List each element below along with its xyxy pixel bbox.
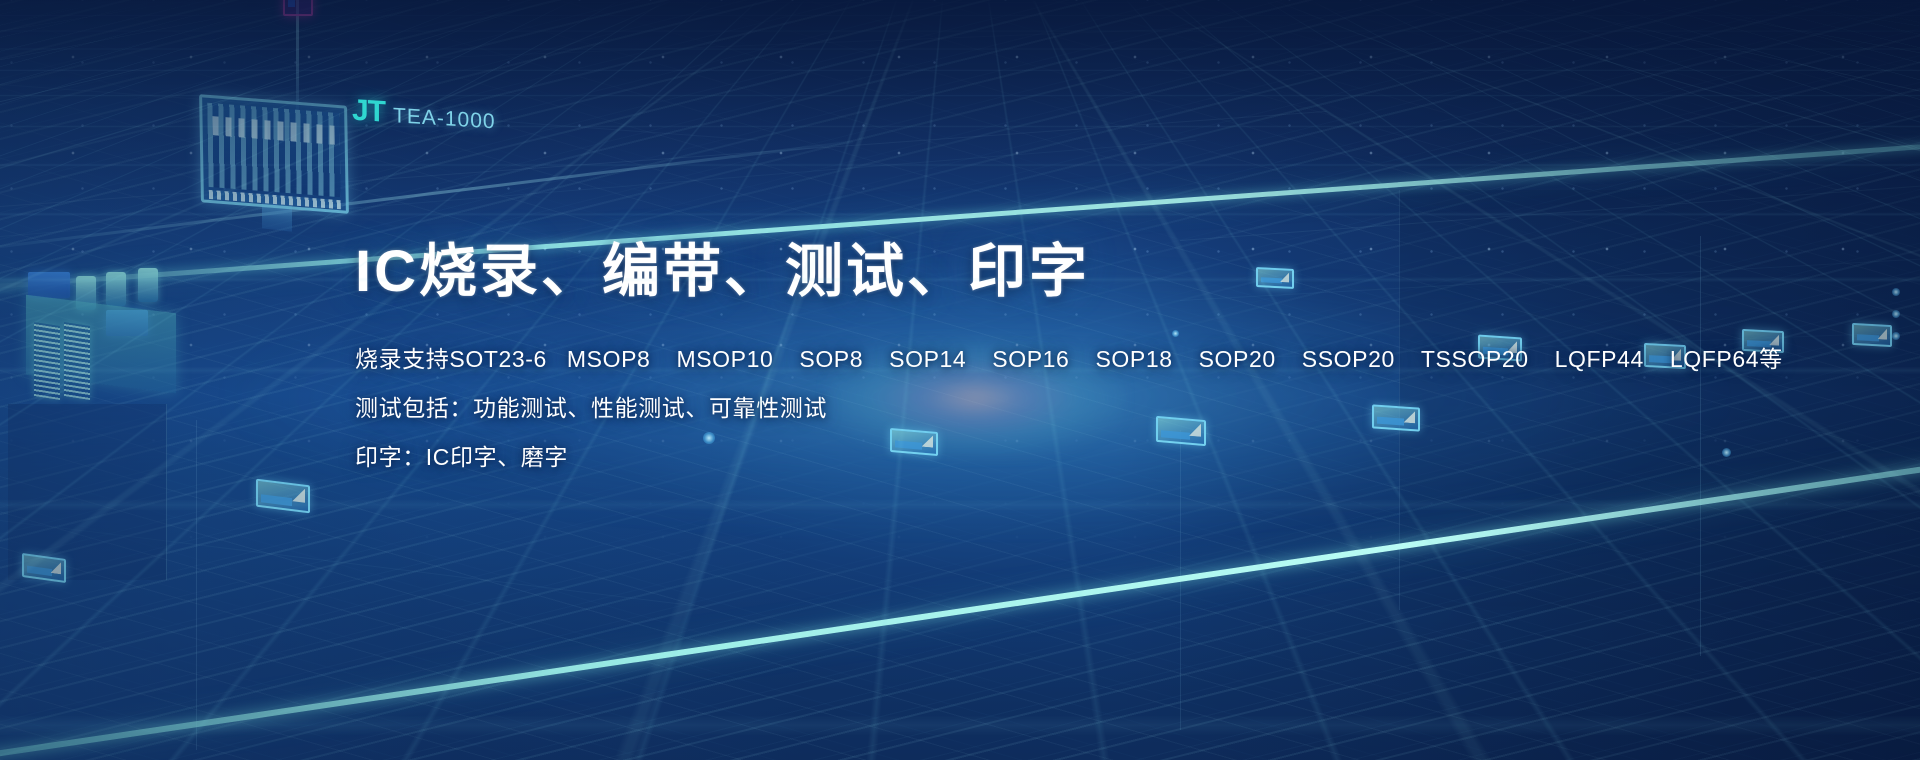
package-type-5: SOP18	[1095, 346, 1172, 372]
package-type-8: TSSOP20	[1421, 346, 1529, 372]
package-type-1: MSOP10	[676, 346, 773, 372]
hero-content: IC烧录、编带、测试、印字 烧录支持SOT23-6MSOP8MSOP10SOP8…	[355, 240, 1655, 472]
machine-brand-name: JT	[352, 94, 385, 130]
machine-model-number: TEA-1000	[393, 104, 496, 134]
burn-support-prefix: 烧录支持SOT23-6	[355, 346, 547, 372]
printing-scope-line: 印字：IC印字、磨字	[355, 438, 1655, 472]
package-type-4: SOP16	[992, 346, 1069, 372]
package-type-0: MSOP8	[567, 346, 651, 372]
overhead-indicator-icon	[283, 0, 313, 16]
package-type-2: SOP8	[799, 346, 863, 372]
package-type-10: LQFP64等	[1670, 346, 1783, 372]
package-type-3: SOP14	[889, 346, 966, 372]
handler-machine-icon	[10, 268, 200, 418]
glow-node	[1892, 332, 1900, 340]
page-title: IC烧录、编带、测试、印字	[355, 240, 1655, 304]
machine-brand-label: JT TEA-1000	[352, 94, 496, 137]
glow-node	[1722, 448, 1731, 457]
control-monitor-icon	[199, 94, 349, 214]
package-type-7: SSOP20	[1302, 346, 1395, 372]
package-type-9: LQFP44	[1555, 346, 1644, 372]
chip-icon	[1852, 323, 1892, 347]
package-type-6: SOP20	[1199, 346, 1276, 372]
glow-node	[1892, 288, 1900, 296]
glow-node	[1892, 310, 1900, 318]
burn-support-line: 烧录支持SOT23-6MSOP8MSOP10SOP8SOP14SOP16SOP1…	[355, 340, 1655, 374]
ic-services-hero-banner: JT TEA-1000 IC烧录、编带、测试、印字 烧录支持SOT23-6MSO…	[0, 0, 1920, 760]
test-scope-line: 测试包括：功能测试、性能测试、可靠性测试	[355, 389, 1655, 423]
light-beam-mid	[0, 140, 853, 253]
